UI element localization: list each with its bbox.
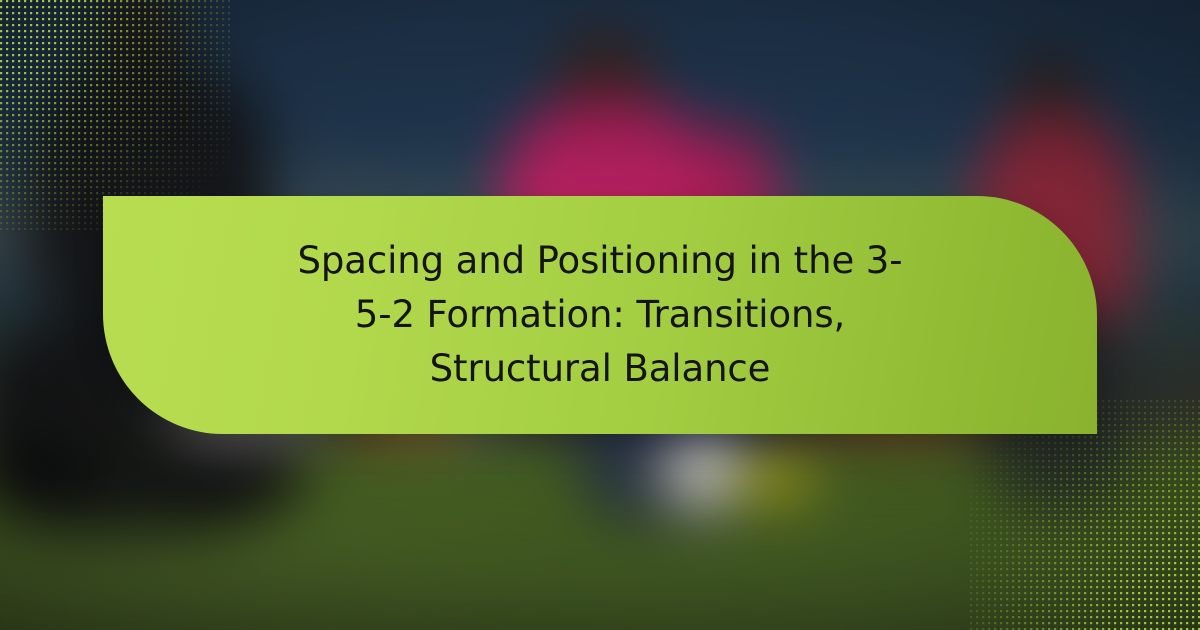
- page-title: Spacing and Positioning in the 3-5-2 For…: [220, 234, 980, 396]
- share-card: Spacing and Positioning in the 3-5-2 For…: [0, 0, 1200, 630]
- halftone-dots-icon-bottom-right: [970, 400, 1200, 630]
- title-banner: Spacing and Positioning in the 3-5-2 For…: [103, 196, 1097, 434]
